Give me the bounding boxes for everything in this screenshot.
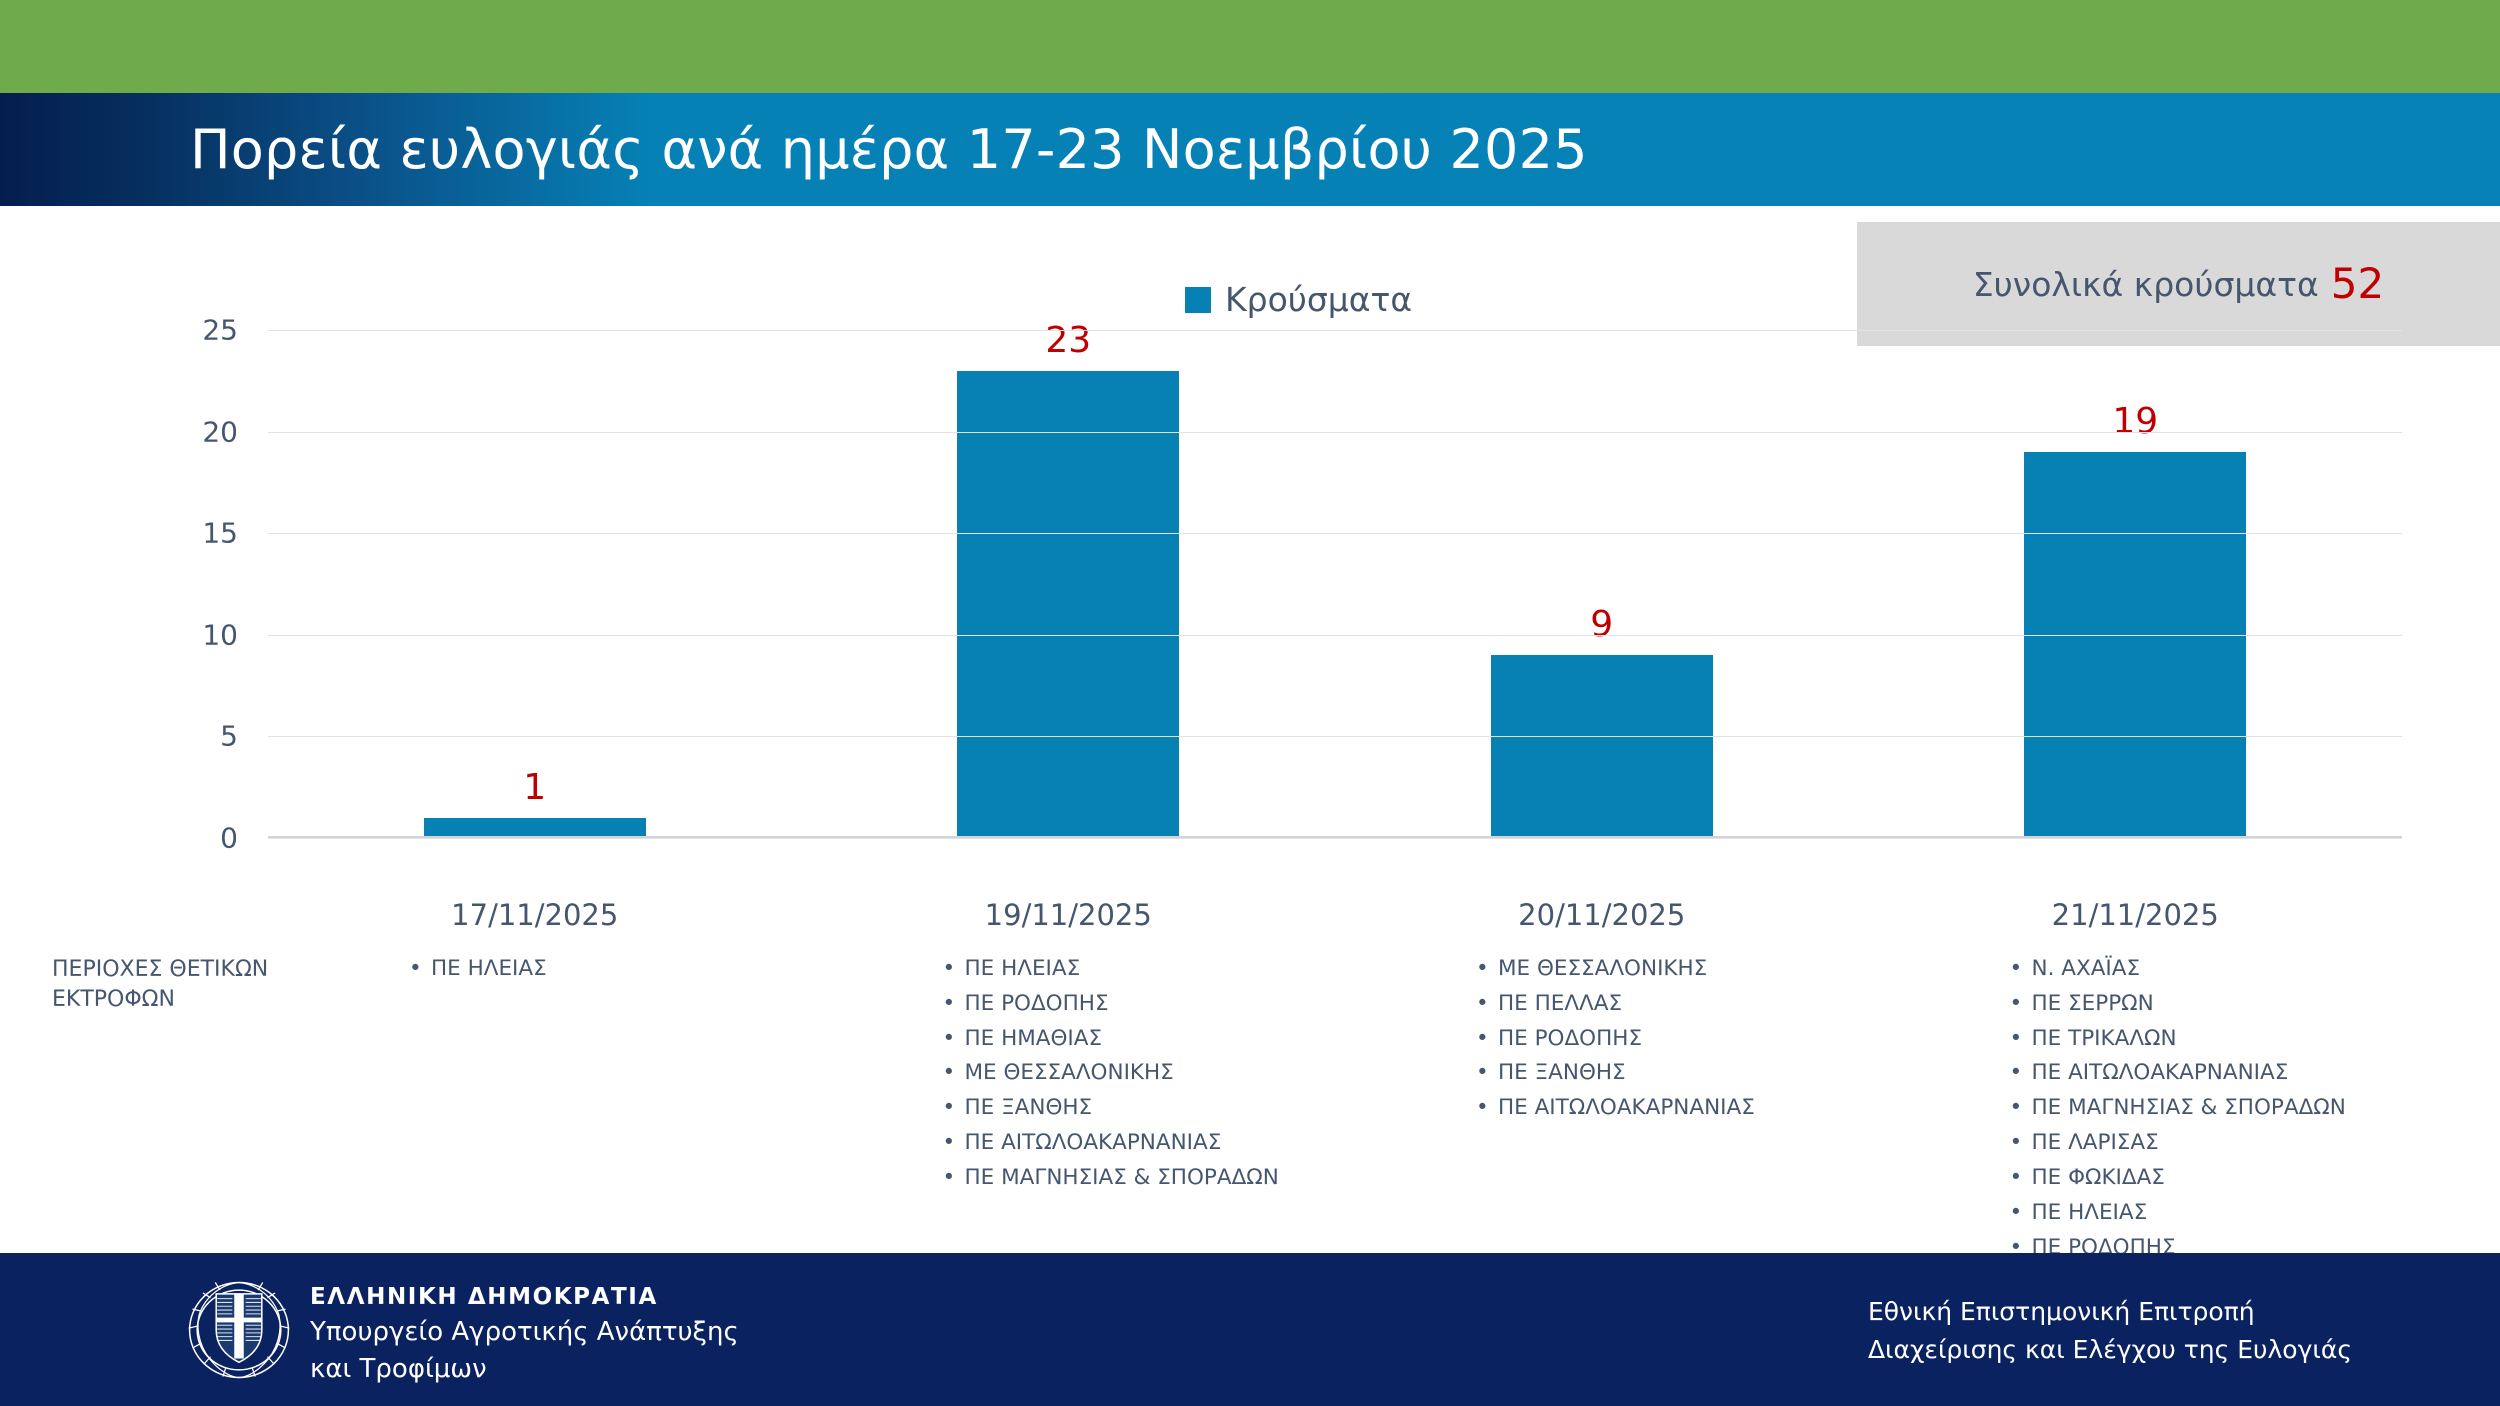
bar-value-label: 19 [2112, 401, 2158, 442]
region-list-item: Ν. ΑΧΑΪΑΣ [2008, 952, 2403, 987]
chart-legend: Κρούσματα [1185, 280, 1412, 319]
legend-label: Κρούσματα [1225, 280, 1412, 319]
regions-column-20/11/2025: ΜΕ ΘΕΣΣΑΛΟΝΙΚΗΣΠΕ ΠΕΛΛΑΣΠΕ ΡΟΔΟΠΗΣΠΕ ΞΑΝ… [1335, 952, 1869, 1265]
y-axis-tick-25: 25 [202, 314, 238, 347]
region-list-item: ΠΕ ΗΛΕΙΑΣ [407, 952, 802, 987]
region-list-item: ΠΕ ΑΙΤΩΛΟΑΚΑΡΝΑΝΙΑΣ [941, 1126, 1336, 1161]
bar-20/11/2025[interactable]: 9 [1491, 655, 1713, 838]
y-axis-tick-0: 0 [220, 822, 238, 855]
region-list-item: ΠΕ ΠΕΛΛΑΣ [1474, 987, 1869, 1022]
bar-17/11/2025[interactable]: 1 [424, 818, 646, 838]
regions-lists: ΠΕ ΗΛΕΙΑΣΠΕ ΗΛΕΙΑΣΠΕ ΡΟΔΟΠΗΣΠΕ ΗΜΑΘΙΑΣΜΕ… [268, 952, 2402, 1265]
slide-root: Πορεία ευλογιάς ανά ημέρα 17-23 Νοεμβρίο… [0, 0, 2500, 1406]
bar-slot: 19 [1869, 330, 2403, 838]
y-axis-tick-20: 20 [202, 415, 238, 448]
y-axis: 2520151050 [150, 330, 260, 838]
x-axis-label-cell: 19/11/2025 [802, 898, 1336, 932]
ministry-line-2: Υπουργείο Αγροτικής Ανάπτυξης [310, 1314, 739, 1351]
plot-area: 123919 [268, 330, 2402, 838]
regions-column-21/11/2025: Ν. ΑΧΑΪΑΣΠΕ ΣΕΡΡΩΝΠΕ ΤΡΙΚΑΛΩΝΠΕ ΑΙΤΩΛΟΑΚ… [1869, 952, 2403, 1265]
region-list-item: ΠΕ ΗΛΕΙΑΣ [941, 952, 1336, 987]
ministry-text-block: ΕΛΛΗΝΙΚΗ ΔΗΜΟΚΡΑΤΙΑ Υπουργείο Αγροτικής … [310, 1281, 739, 1388]
gridline [268, 330, 2402, 331]
region-list-item: ΠΕ ΡΟΔΟΠΗΣ [941, 987, 1336, 1022]
gridline [268, 432, 2402, 433]
total-cases-value: 52 [2331, 263, 2384, 305]
page-title: Πορεία ευλογιάς ανά ημέρα 17-23 Νοεμβρίο… [190, 123, 1588, 177]
x-axis-label-cell: 17/11/2025 [268, 898, 802, 932]
region-list-item: ΠΕ ΣΕΡΡΩΝ [2008, 987, 2403, 1022]
ministry-line-3: και Τροφίμων [310, 1351, 739, 1388]
region-list-item: ΠΕ ΗΛΕΙΑΣ [2008, 1196, 2403, 1231]
legend-swatch-icon [1185, 287, 1211, 313]
region-list-item: ΠΕ ΞΑΝΘΗΣ [1474, 1056, 1869, 1091]
bar-group: 123919 [268, 330, 2402, 838]
total-cases-label: Συνολικά κρούσματα [1973, 265, 2319, 304]
committee-text-block: Εθνική Επιστημονική Επιτροπή Διαχείρισης… [1868, 1293, 2352, 1368]
region-list-item: ΠΕ ΑΙΤΩΛΟΑΚΑΡΝΑΝΙΑΣ [2008, 1056, 2403, 1091]
bar-slot: 9 [1335, 330, 1869, 838]
footer: ΕΛΛΗΝΙΚΗ ΔΗΜΟΚΡΑΤΙΑ Υπουργείο Αγροτικής … [0, 1253, 2500, 1406]
region-list-item: ΠΕ ΜΑΓΝΗΣΙΑΣ & ΣΠΟΡΑΔΩΝ [2008, 1091, 2403, 1126]
region-list-item: ΠΕ ΜΑΓΝΗΣΙΑΣ & ΣΠΟΡΑΔΩΝ [941, 1161, 1336, 1196]
committee-line-1: Εθνική Επιστημονική Επιτροπή [1868, 1293, 2352, 1331]
x-axis-labels: 17/11/202519/11/202520/11/202521/11/2025 [268, 898, 2402, 932]
region-list-item: ΠΕ ΡΟΔΟΠΗΣ [1474, 1022, 1869, 1057]
region-list-item: ΠΕ ΞΑΝΘΗΣ [941, 1091, 1336, 1126]
committee-line-2: Διαχείρισης και Ελέγχου της Ευλογιάς [1868, 1331, 2352, 1369]
gridline [268, 533, 2402, 534]
region-list-item: ΠΕ ΦΩΚΙΔΑΣ [2008, 1161, 2403, 1196]
regions-column-19/11/2025: ΠΕ ΗΛΕΙΑΣΠΕ ΡΟΔΟΠΗΣΠΕ ΗΜΑΘΙΑΣΜΕ ΘΕΣΣΑΛΟΝ… [802, 952, 1336, 1265]
region-list-item: ΜΕ ΘΕΣΣΑΛΟΝΙΚΗΣ [1474, 952, 1869, 987]
total-cases-box: Συνολικά κρούσματα 52 [1857, 222, 2500, 346]
x-axis-label-cell: 20/11/2025 [1335, 898, 1869, 932]
gridline [268, 635, 2402, 636]
x-axis-label: 19/11/2025 [985, 898, 1152, 932]
bar-19/11/2025[interactable]: 23 [957, 371, 1179, 838]
regions-heading: ΠΕΡΙΟΧΕΣ ΘΕΤΙΚΩΝ ΕΚΤΡΟΦΩΝ [52, 955, 282, 1014]
bar-slot: 23 [802, 330, 1336, 838]
green-accent-band [0, 0, 2500, 93]
y-axis-tick-15: 15 [202, 517, 238, 550]
bar-value-label: 1 [523, 767, 546, 808]
bar-value-label: 9 [1590, 604, 1613, 645]
title-bar: Πορεία ευλογιάς ανά ημέρα 17-23 Νοεμβρίο… [0, 93, 2500, 206]
bar-21/11/2025[interactable]: 19 [2024, 452, 2246, 838]
y-axis-tick-10: 10 [202, 618, 238, 651]
region-list-item: ΠΕ ΤΡΙΚΑΛΩΝ [2008, 1022, 2403, 1057]
region-list-item: ΠΕ ΗΜΑΘΙΑΣ [941, 1022, 1336, 1057]
greek-coat-of-arms-icon [182, 1273, 296, 1387]
x-axis-label: 20/11/2025 [1518, 898, 1685, 932]
region-list-item: ΠΕ ΑΙΤΩΛΟΑΚΑΡΝΑΝΙΑΣ [1474, 1091, 1869, 1126]
bar-chart: 2520151050 123919 [0, 330, 2500, 890]
ministry-line-1: ΕΛΛΗΝΙΚΗ ΔΗΜΟΚΡΑΤΙΑ [310, 1281, 739, 1314]
region-list-item: ΜΕ ΘΕΣΣΑΛΟΝΙΚΗΣ [941, 1056, 1336, 1091]
bar-slot: 1 [268, 330, 802, 838]
region-list-item: ΠΕ ΛΑΡΙΣΑΣ [2008, 1126, 2403, 1161]
y-axis-tick-5: 5 [220, 720, 238, 753]
x-axis-label-cell: 21/11/2025 [1869, 898, 2403, 932]
gridline [268, 838, 2402, 839]
gridline [268, 736, 2402, 737]
x-axis-label: 17/11/2025 [451, 898, 618, 932]
bar-value-label: 23 [1045, 320, 1091, 361]
regions-column-17/11/2025: ΠΕ ΗΛΕΙΑΣ [268, 952, 802, 1265]
x-axis-label: 21/11/2025 [2052, 898, 2219, 932]
